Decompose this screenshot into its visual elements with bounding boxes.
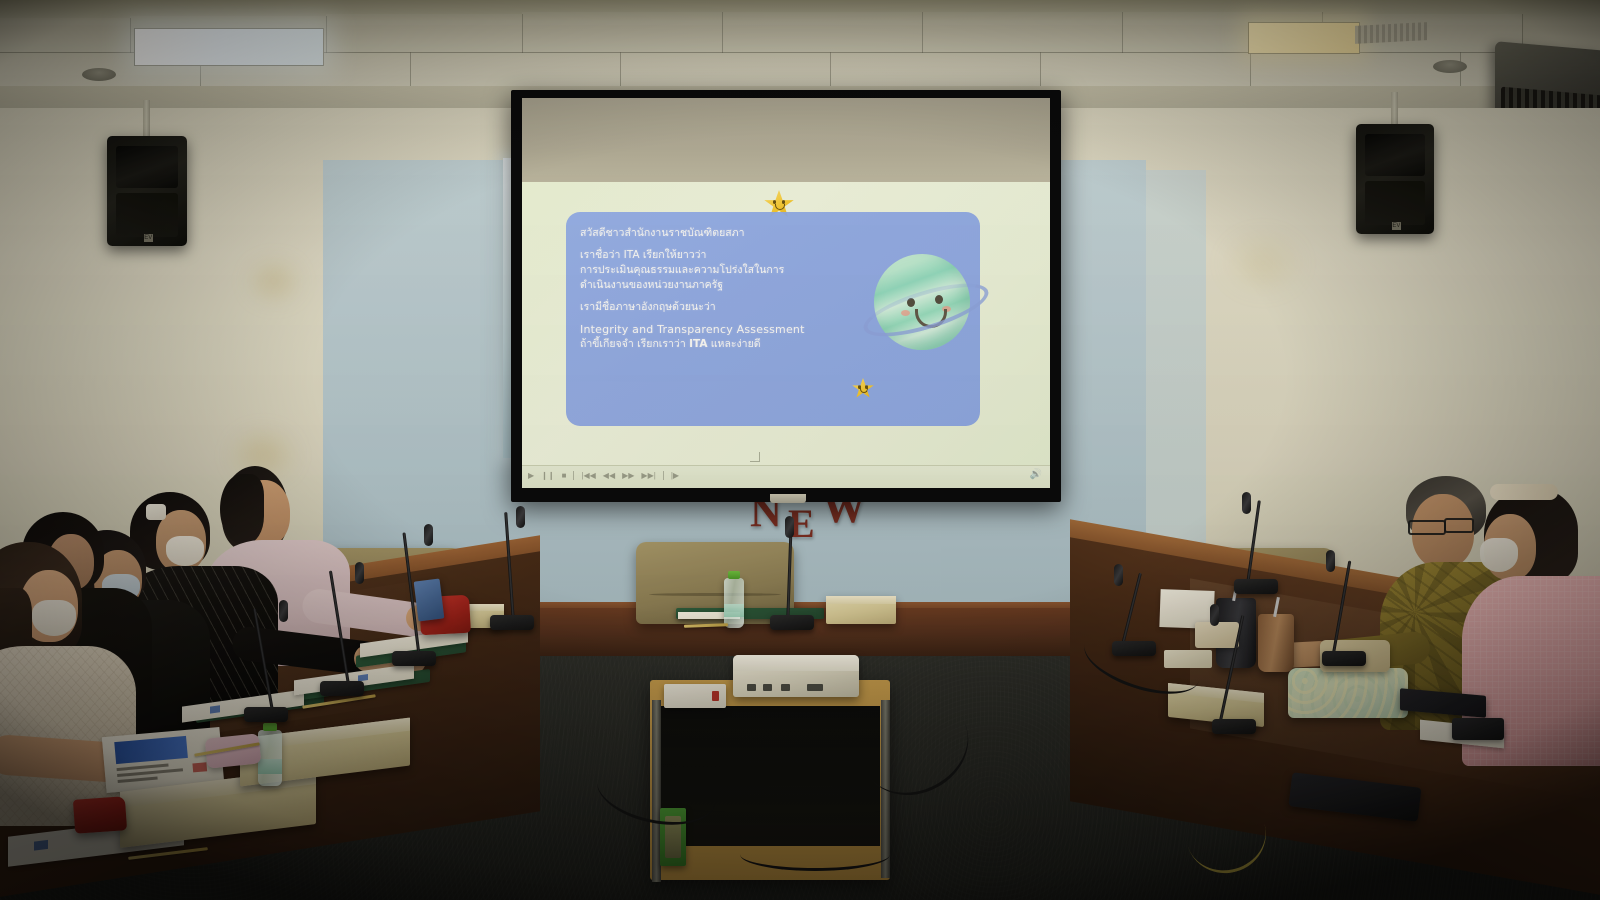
water-bottle-center [724, 578, 744, 628]
speaker-mount-left [143, 100, 150, 138]
ceiling-light-panel-warm [1248, 22, 1360, 54]
planet-icon [866, 246, 978, 362]
projection-screen: สวัสดีชาวสำนักงานราชบัณฑิตยสภา เราชื่อว่… [511, 90, 1061, 502]
slide-line-1: สวัสดีชาวสำนักงานราชบัณฑิตยสภา [580, 226, 910, 241]
laptop-left-back[interactable] [414, 579, 445, 622]
slide-closing-acronym: ITA [689, 338, 707, 350]
microphone-base [244, 707, 288, 722]
bottle-cap [728, 571, 739, 579]
microphone-base [770, 615, 814, 630]
slide-line-4: ดำเนินงานของหน่วยงานภาครัฐ [580, 278, 910, 293]
microphone-base [392, 651, 436, 666]
power-switch[interactable] [712, 691, 719, 701]
snack-box-right [1195, 622, 1239, 648]
headband [1490, 484, 1558, 500]
slide-content-panel: สวัสดีชาวสำนักงานราชบัณฑิตยสภา เราชื่อว่… [566, 212, 980, 426]
slide-closing-line: ถ้าขี้เกียจจำ เรียกเราว่า ITA แหละง่ายดี [580, 337, 910, 352]
media-right-group[interactable]: 🔊 [1030, 470, 1042, 480]
fast-forward-button[interactable]: ▶▶ [622, 472, 634, 480]
speaker-horn-icon [1365, 134, 1426, 176]
slide-corner-marker [750, 452, 760, 462]
speaker-right: EV [1356, 124, 1434, 234]
microphone-base [490, 615, 534, 630]
rewind-button[interactable]: ◀◀ [603, 472, 615, 480]
slide-line-3: การประเมินคุณธรรมและความโปร่งใสในการ [580, 263, 910, 278]
projector [733, 655, 859, 697]
pause-button[interactable]: ❙❙ [541, 472, 554, 480]
screen-upper-band [522, 98, 1050, 182]
slide-closing-prefix: ถ้าขี้เกียจจำ เรียกเราว่า [580, 338, 689, 350]
smoke-detector-icon [1433, 60, 1467, 73]
speaker-left: EV [107, 136, 187, 246]
play-button[interactable]: ▶ [528, 472, 534, 480]
power-strip[interactable] [664, 684, 726, 708]
ceiling-light-panel-cool [134, 28, 324, 66]
volume-icon[interactable]: 🔊 [1030, 470, 1042, 480]
slide-line-5: เรามีชื่อภาษาอังกฤษด้วยนะว่า [580, 300, 910, 315]
speaker-badge: EV [144, 234, 153, 242]
speaker-horn-icon [116, 146, 178, 188]
speaker-badge: EV [1392, 222, 1401, 230]
wooden-box-center [826, 596, 896, 624]
hair-clip [146, 504, 166, 520]
device-right[interactable] [1452, 718, 1504, 740]
bottle-cap [263, 723, 276, 731]
microphone-base [320, 681, 364, 696]
smoke-detector-icon [82, 68, 116, 81]
bottle-label [724, 604, 744, 617]
microphone-base [1212, 719, 1256, 734]
glasses-icon [1408, 520, 1446, 535]
speaker-woofer-icon [116, 193, 178, 237]
stop-button[interactable]: ■ [562, 472, 567, 480]
ceiling [0, 0, 1600, 96]
ceiling-vent [1355, 22, 1427, 44]
tumbler-brown-right [1258, 614, 1294, 672]
screen-pull-tab[interactable] [770, 494, 806, 503]
conference-room-scene: EV EV N E W ส [0, 0, 1600, 900]
next-track-button[interactable]: ▶▶| [641, 472, 655, 480]
floral-pouch-right [1288, 668, 1408, 718]
speaker-woofer-icon [1365, 181, 1426, 225]
slide-closing-suffix: แหละง่ายดี [707, 338, 760, 350]
slide-text-block: สวัสดีชาวสำนักงานราชบัณฑิตยสภา เราชื่อว่… [580, 226, 910, 352]
microphone-base [1322, 651, 1366, 666]
slide-english-title: Integrity and Transparency Assessment [580, 322, 910, 338]
speaker-mount-right [1391, 92, 1398, 126]
glasses-icon [1444, 518, 1474, 533]
bottle-label [258, 759, 282, 774]
cable-floor-under [740, 838, 890, 871]
red-pouch-left [73, 796, 127, 834]
projected-slide: สวัสดีชาวสำนักงานราชบัณฑิตยสภา เราชื่อว่… [522, 182, 1050, 488]
media-player-bar[interactable]: ▶ ❙❙ ■ |◀◀ ◀◀ ▶▶ ▶▶| |▶ 🔊 00:00 / [522, 465, 1050, 488]
screen-surface: สวัสดีชาวสำนักงานราชบัณฑิตยสภา เราชื่อว่… [522, 98, 1050, 488]
slide-line-2: เราชื่อว่า ITA เรียกให้ยาวว่า [580, 248, 910, 263]
previous-track-button[interactable]: |◀◀ [581, 472, 595, 480]
water-bottle-left [258, 730, 282, 786]
microphone-base [1234, 579, 1278, 594]
media-controls-group[interactable]: ▶ ❙❙ ■ |◀◀ ◀◀ ▶▶ ▶▶| |▶ [528, 471, 679, 480]
step-forward-button[interactable]: |▶ [671, 472, 679, 480]
